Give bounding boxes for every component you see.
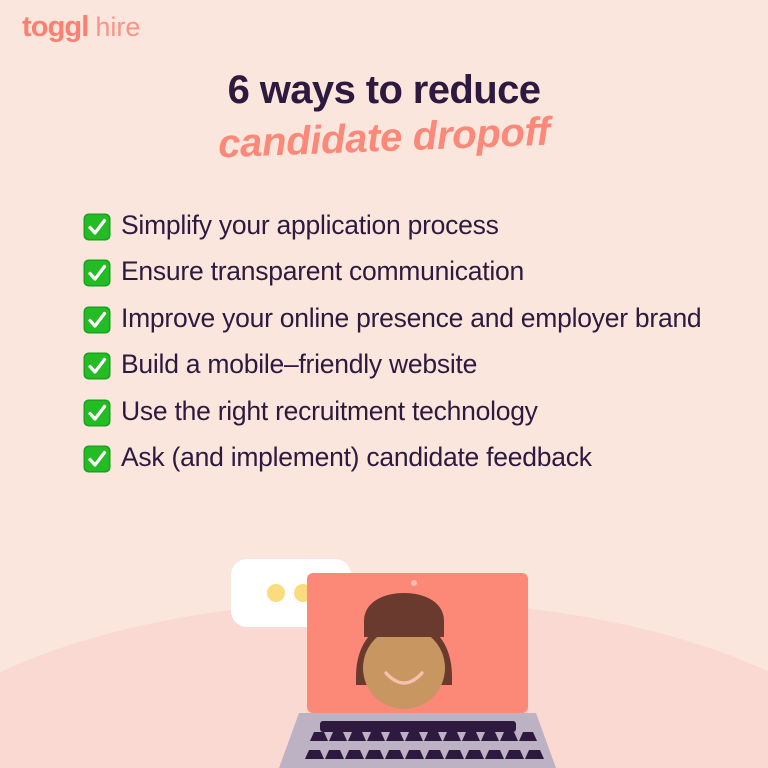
green-check-icon bbox=[82, 351, 112, 381]
logo-mark-toggl: toggl bbox=[22, 13, 88, 42]
list-item: Ensure transparent communication bbox=[82, 254, 702, 288]
list-item: Build a mobile–friendly website bbox=[82, 347, 702, 381]
title-line-accent: candidate dropoff bbox=[217, 109, 550, 167]
face-shape bbox=[363, 627, 445, 709]
list-item-label: Build a mobile–friendly website bbox=[121, 347, 477, 381]
list-item: Simplify your application process bbox=[82, 208, 702, 242]
list-item-label: Use the right recruitment technology bbox=[121, 394, 538, 428]
green-check-icon bbox=[82, 212, 112, 242]
page-title: 6 ways to reduce candidate dropoff bbox=[0, 68, 768, 161]
list-item-label: Ensure transparent communication bbox=[121, 254, 524, 288]
tips-checklist: Simplify your application processEnsure … bbox=[82, 208, 702, 487]
logo-word-hire: hire bbox=[95, 14, 140, 41]
green-check-icon bbox=[82, 398, 112, 428]
list-item-label: Ask (and implement) candidate feedback bbox=[121, 440, 592, 474]
bubble-dot-left bbox=[267, 584, 285, 602]
laptop-video-call-illustration bbox=[0, 545, 768, 768]
list-item: Use the right recruitment technology bbox=[82, 394, 702, 428]
green-check-icon bbox=[82, 444, 112, 474]
list-item-label: Simplify your application process bbox=[121, 208, 499, 242]
list-item: Improve your online presence and employe… bbox=[82, 301, 702, 335]
list-item-label: Improve your online presence and employe… bbox=[121, 301, 701, 335]
trackpad-bar bbox=[320, 721, 516, 732]
webcam-dot bbox=[411, 580, 417, 586]
green-check-icon bbox=[82, 258, 112, 288]
list-item: Ask (and implement) candidate feedback bbox=[82, 440, 702, 474]
toggl-hire-logo[interactable]: toggl hire bbox=[22, 13, 140, 42]
green-check-icon bbox=[82, 305, 112, 335]
title-line-primary: 6 ways to reduce bbox=[0, 68, 768, 113]
